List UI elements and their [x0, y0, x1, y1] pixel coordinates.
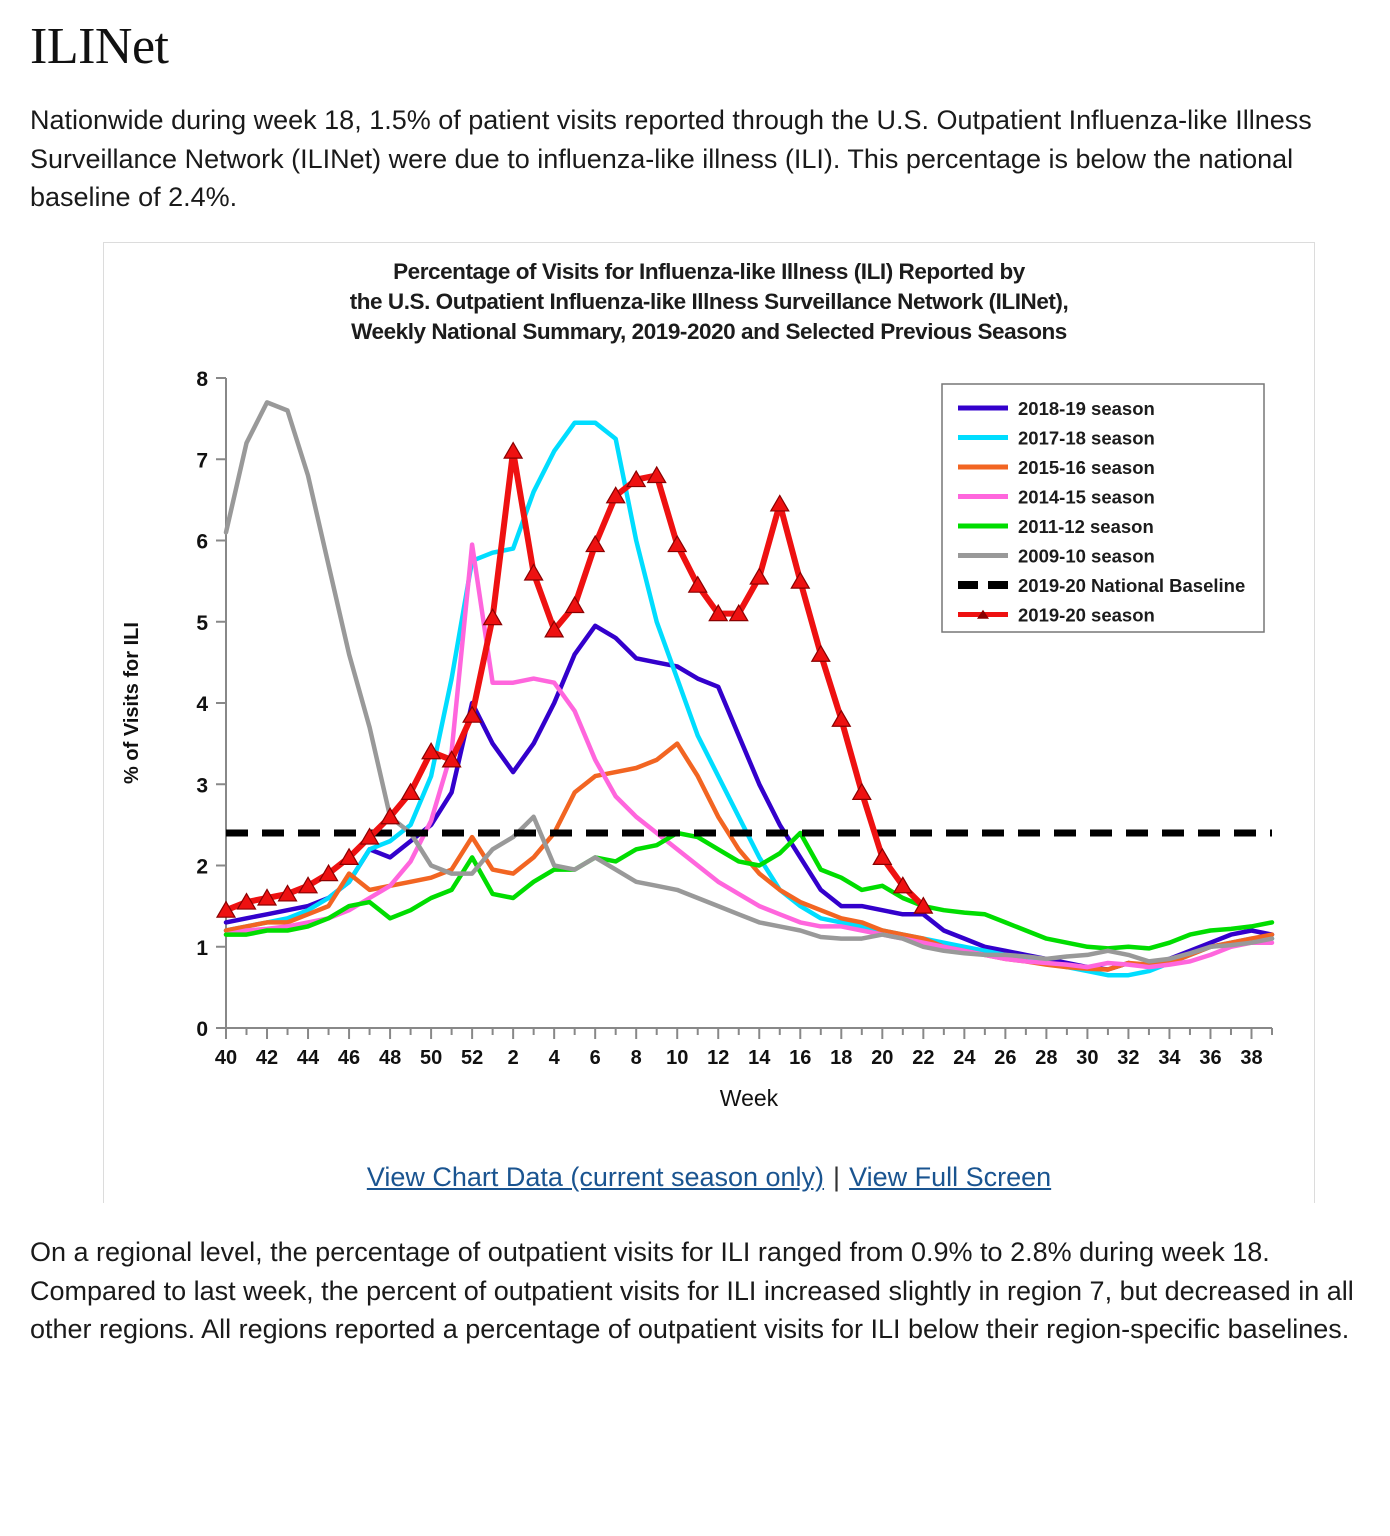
series-marker-7	[586, 536, 604, 552]
intro-paragraph: Nationwide during week 18, 1.5% of patie…	[30, 101, 1360, 216]
page-title: ILINet	[30, 18, 1360, 75]
series-marker-7	[812, 646, 830, 662]
chart-links: View Chart Data (current season only)|Vi…	[104, 1146, 1314, 1203]
y-tick-label: 8	[196, 368, 208, 391]
x-tick-label: 52	[461, 1047, 483, 1069]
x-tick-label: 28	[1035, 1047, 1057, 1069]
series-marker-7	[504, 443, 522, 459]
y-tick-label: 6	[196, 531, 208, 554]
y-tick-label: 4	[196, 693, 208, 716]
legend-label-7: 2019-20 season	[1018, 605, 1155, 626]
series-marker-7	[791, 573, 809, 589]
series-line-7	[226, 451, 923, 910]
x-tick-label: 2	[508, 1047, 519, 1069]
legend-label-2: 2015-16 season	[1018, 457, 1155, 478]
x-tick-label: 44	[297, 1047, 320, 1069]
x-tick-label: 36	[1199, 1047, 1221, 1069]
legend-label-4: 2011-12 season	[1018, 516, 1154, 537]
view-chart-data-link[interactable]: View Chart Data (current season only)	[367, 1162, 824, 1192]
y-tick-label: 1	[196, 937, 208, 960]
chart-title-line-1: Percentage of Visits for Influenza-like …	[164, 257, 1254, 287]
x-tick-label: 48	[379, 1047, 401, 1069]
x-tick-label: 42	[256, 1047, 278, 1069]
x-tick-label: 22	[912, 1047, 934, 1069]
series-marker-7	[853, 784, 871, 800]
x-axis-label: Week	[720, 1085, 779, 1111]
series-marker-7	[525, 565, 543, 581]
link-separator: |	[824, 1162, 849, 1192]
series-marker-7	[484, 609, 502, 625]
x-tick-label: 8	[631, 1047, 642, 1069]
x-tick-label: 46	[338, 1047, 360, 1069]
chart-title-line-3: Weekly National Summary, 2019-2020 and S…	[164, 317, 1254, 347]
x-tick-label: 34	[1158, 1047, 1181, 1069]
x-tick-label: 10	[666, 1047, 688, 1069]
x-tick-label: 14	[748, 1047, 771, 1069]
x-tick-label: 32	[1117, 1047, 1139, 1069]
page-container: ILINet Nationwide during week 18, 1.5% o…	[0, 0, 1390, 1348]
y-tick-label: 0	[196, 1018, 208, 1041]
legend-label-6: 2019-20 National Baseline	[1018, 575, 1245, 596]
x-tick-label: 6	[590, 1047, 601, 1069]
legend-label-0: 2018-19 season	[1018, 398, 1155, 419]
series-marker-7	[832, 711, 850, 727]
y-tick-label: 3	[196, 774, 208, 797]
view-full-screen-link[interactable]: View Full Screen	[849, 1162, 1051, 1192]
outro-paragraph: On a regional level, the percentage of o…	[30, 1233, 1360, 1348]
x-tick-label: 38	[1240, 1047, 1262, 1069]
x-tick-label: 16	[789, 1047, 811, 1069]
x-tick-label: 50	[420, 1047, 442, 1069]
x-tick-label: 12	[707, 1047, 729, 1069]
legend-label-5: 2009-10 season	[1018, 546, 1155, 567]
chart-title: Percentage of Visits for Influenza-like …	[104, 257, 1314, 346]
series-marker-7	[873, 849, 891, 865]
x-tick-label: 30	[1076, 1047, 1098, 1069]
chart-title-line-2: the U.S. Outpatient Influenza-like Illne…	[164, 287, 1254, 317]
legend-label-1: 2017-18 season	[1018, 428, 1155, 449]
series-marker-7	[668, 536, 686, 552]
y-tick-label: 2	[196, 856, 208, 879]
x-tick-label: 18	[830, 1047, 852, 1069]
series-marker-7	[771, 496, 789, 512]
chart-card: Percentage of Visits for Influenza-like …	[103, 242, 1315, 1203]
x-tick-label: 26	[994, 1047, 1016, 1069]
series-marker-7	[750, 569, 768, 585]
x-tick-label: 4	[549, 1047, 561, 1069]
y-axis-label: % of Visits for ILI	[121, 622, 143, 784]
legend-label-3: 2014-15 season	[1018, 487, 1155, 508]
y-tick-label: 7	[196, 449, 208, 472]
x-tick-label: 24	[953, 1047, 976, 1069]
chart-svg: 012345678% of Visits for ILI404244464850…	[104, 356, 1316, 1146]
ili-line-chart: 012345678% of Visits for ILI404244464850…	[104, 356, 1316, 1146]
x-tick-label: 40	[215, 1047, 237, 1069]
y-tick-label: 5	[196, 612, 208, 635]
series-marker-7	[566, 597, 584, 613]
x-tick-label: 20	[871, 1047, 893, 1069]
